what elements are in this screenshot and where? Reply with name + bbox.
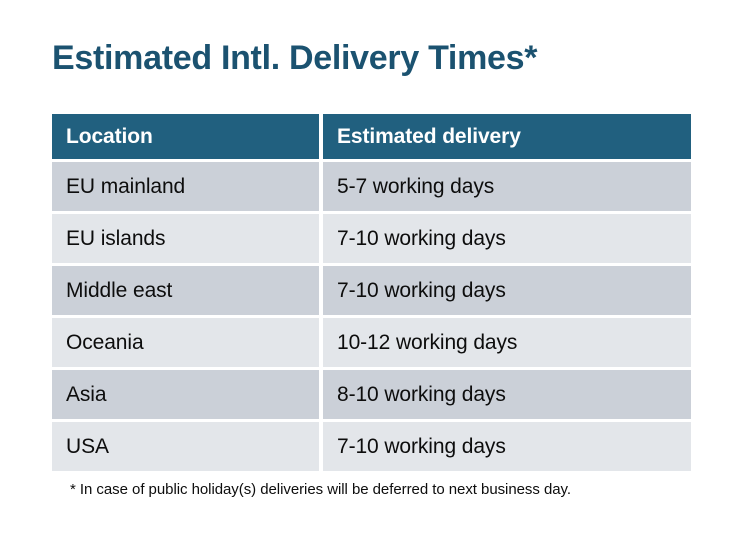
- table-cell-location-text: USA: [66, 435, 109, 459]
- table-row: USA 7-10 working days: [52, 422, 691, 471]
- table-cell-delivery-text: 10-12 working days: [337, 331, 517, 355]
- table-cell-delivery-text: 7-10 working days: [337, 279, 506, 303]
- table-cell-location-text: Middle east: [66, 279, 172, 303]
- table-row: EU islands 7-10 working days: [52, 214, 691, 263]
- table-cell-delivery-text: 5-7 working days: [337, 175, 494, 199]
- table-header-cell-delivery: Estimated delivery: [323, 114, 691, 159]
- table-cell-delivery: 8-10 working days: [323, 370, 691, 419]
- delivery-times-page: Estimated Intl. Delivery Times* Location…: [0, 0, 745, 536]
- table-cell-location: Middle east: [52, 266, 319, 315]
- table-cell-delivery: 7-10 working days: [323, 422, 691, 471]
- table-row: Asia 8-10 working days: [52, 370, 691, 419]
- page-title: Estimated Intl. Delivery Times*: [52, 38, 537, 79]
- table-header-label-location: Location: [66, 125, 153, 149]
- table-cell-location-text: Oceania: [66, 331, 144, 355]
- table-cell-location: Oceania: [52, 318, 319, 367]
- table-cell-delivery: 7-10 working days: [323, 266, 691, 315]
- table-header-cell-location: Location: [52, 114, 319, 159]
- table-cell-delivery-text: 7-10 working days: [337, 435, 506, 459]
- table-cell-location: EU islands: [52, 214, 319, 263]
- table-row: EU mainland 5-7 working days: [52, 162, 691, 211]
- table-cell-location: EU mainland: [52, 162, 319, 211]
- table-header-row: Location Estimated delivery: [52, 114, 691, 159]
- table-cell-delivery-text: 7-10 working days: [337, 227, 506, 251]
- table-cell-location-text: EU islands: [66, 227, 165, 251]
- table-cell-delivery-text: 8-10 working days: [337, 383, 506, 407]
- table-cell-location-text: Asia: [66, 383, 106, 407]
- delivery-times-table: Location Estimated delivery EU mainland …: [52, 114, 691, 471]
- table-cell-delivery: 5-7 working days: [323, 162, 691, 211]
- table-cell-location: Asia: [52, 370, 319, 419]
- table-cell-delivery: 10-12 working days: [323, 318, 691, 367]
- table-footnote: * In case of public holiday(s) deliverie…: [70, 481, 571, 498]
- table-header-label-delivery: Estimated delivery: [337, 125, 521, 149]
- table-cell-location-text: EU mainland: [66, 175, 185, 199]
- table-row: Oceania 10-12 working days: [52, 318, 691, 367]
- table-cell-delivery: 7-10 working days: [323, 214, 691, 263]
- table-row: Middle east 7-10 working days: [52, 266, 691, 315]
- table-cell-location: USA: [52, 422, 319, 471]
